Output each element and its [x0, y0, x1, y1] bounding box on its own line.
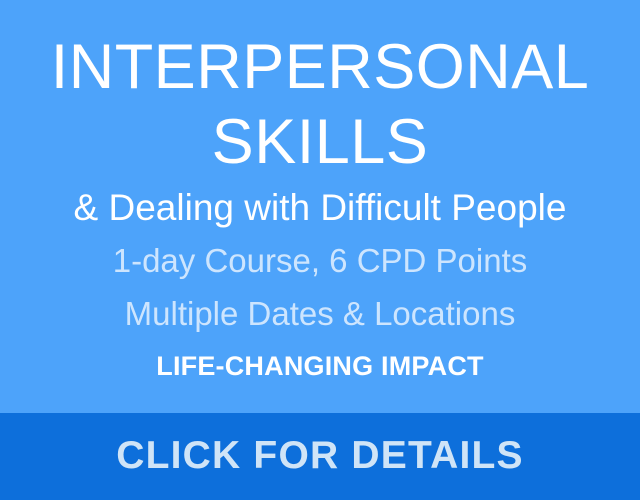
banner-subheadline: & Dealing with Difficult People — [74, 186, 567, 230]
advertisement-banner[interactable]: INTERPERSONAL SKILLS & Dealing with Diff… — [0, 0, 640, 500]
page-title-line-1: INTERPERSONAL — [51, 32, 590, 102]
banner-tagline: LIFE-CHANGING IMPACT — [156, 350, 483, 382]
course-duration-cpd-text: 1-day Course, 6 CPD Points — [113, 241, 528, 281]
banner-hero-section: INTERPERSONAL SKILLS & Dealing with Diff… — [0, 0, 640, 413]
page-title-line-2: SKILLS — [212, 107, 429, 177]
course-dates-locations-text: Multiple Dates & Locations — [125, 294, 516, 334]
cta-bar[interactable]: CLICK FOR DETAILS — [0, 413, 640, 500]
cta-button-label[interactable]: CLICK FOR DETAILS — [116, 433, 524, 481]
